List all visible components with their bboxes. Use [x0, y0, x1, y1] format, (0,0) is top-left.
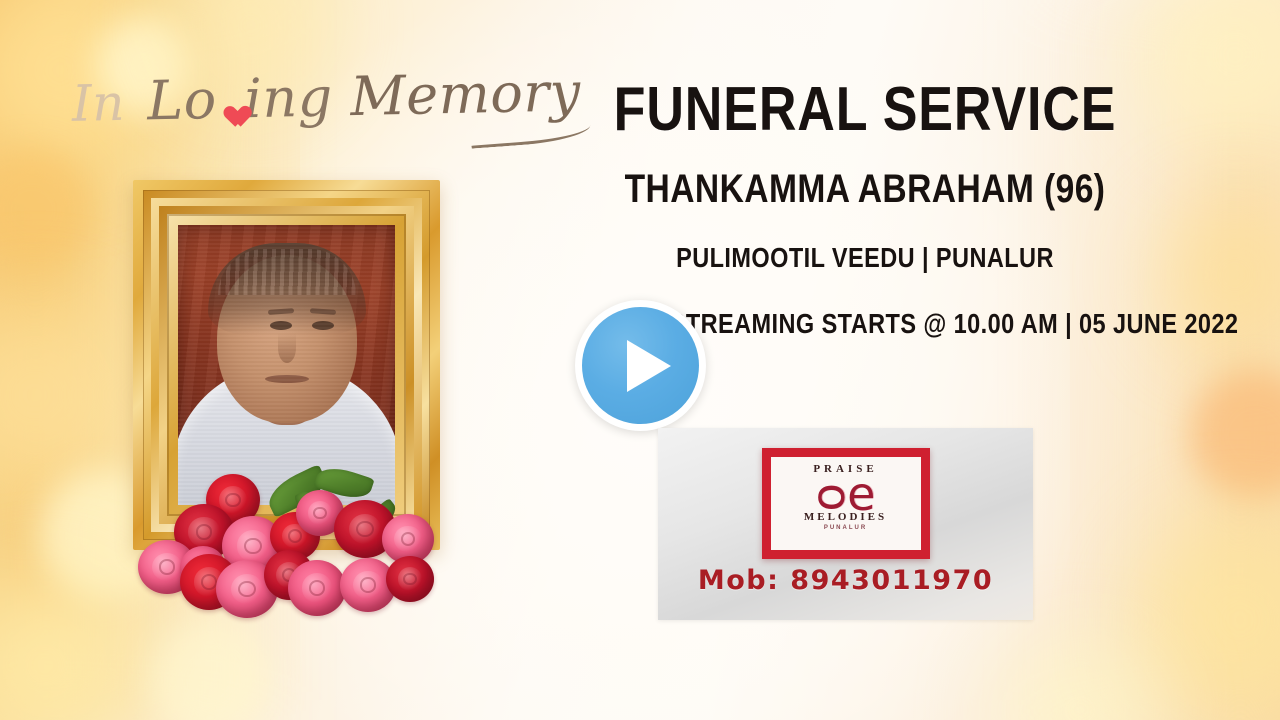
memorial-video-frame: In Loing Memory	[0, 0, 1280, 720]
in-loving-memory-heading: In Loing Memory	[71, 61, 543, 149]
deceased-name: THANKAMMA ABRAHAM (96)	[609, 167, 1121, 212]
play-button-disc	[582, 307, 699, 424]
logo-text-punalur: PUNALUR	[824, 525, 867, 531]
service-location: PULIMOOTIL VEEDU | PUNALUR	[609, 242, 1121, 274]
sponsor-mobile-number: Mob: 8943011970	[658, 565, 1033, 596]
rose-bouquet	[118, 468, 458, 633]
rose-icon	[386, 556, 434, 602]
treble-clef-icon: ᴑe	[816, 473, 876, 515]
script-word-lo: Lo	[147, 68, 218, 132]
script-word-ing: ing	[244, 65, 351, 130]
logo-inner-card: PRAISE ᴑe MELODIES PUNALUR	[771, 457, 921, 550]
sponsor-banner: PRAISE ᴑe MELODIES PUNALUR Mob: 89430119…	[658, 428, 1033, 620]
praise-melodies-logo: PRAISE ᴑe MELODIES PUNALUR	[762, 448, 930, 559]
portrait-photo	[178, 225, 395, 505]
photo-grain-overlay	[178, 225, 395, 505]
page-title: FUNERAL SERVICE	[609, 78, 1121, 141]
play-icon	[627, 340, 671, 392]
script-word-in: In	[71, 73, 148, 133]
play-button[interactable]	[575, 300, 706, 431]
rose-icon	[288, 560, 346, 616]
logo-text-melodies: MELODIES	[804, 511, 887, 523]
heart-icon	[218, 95, 244, 120]
